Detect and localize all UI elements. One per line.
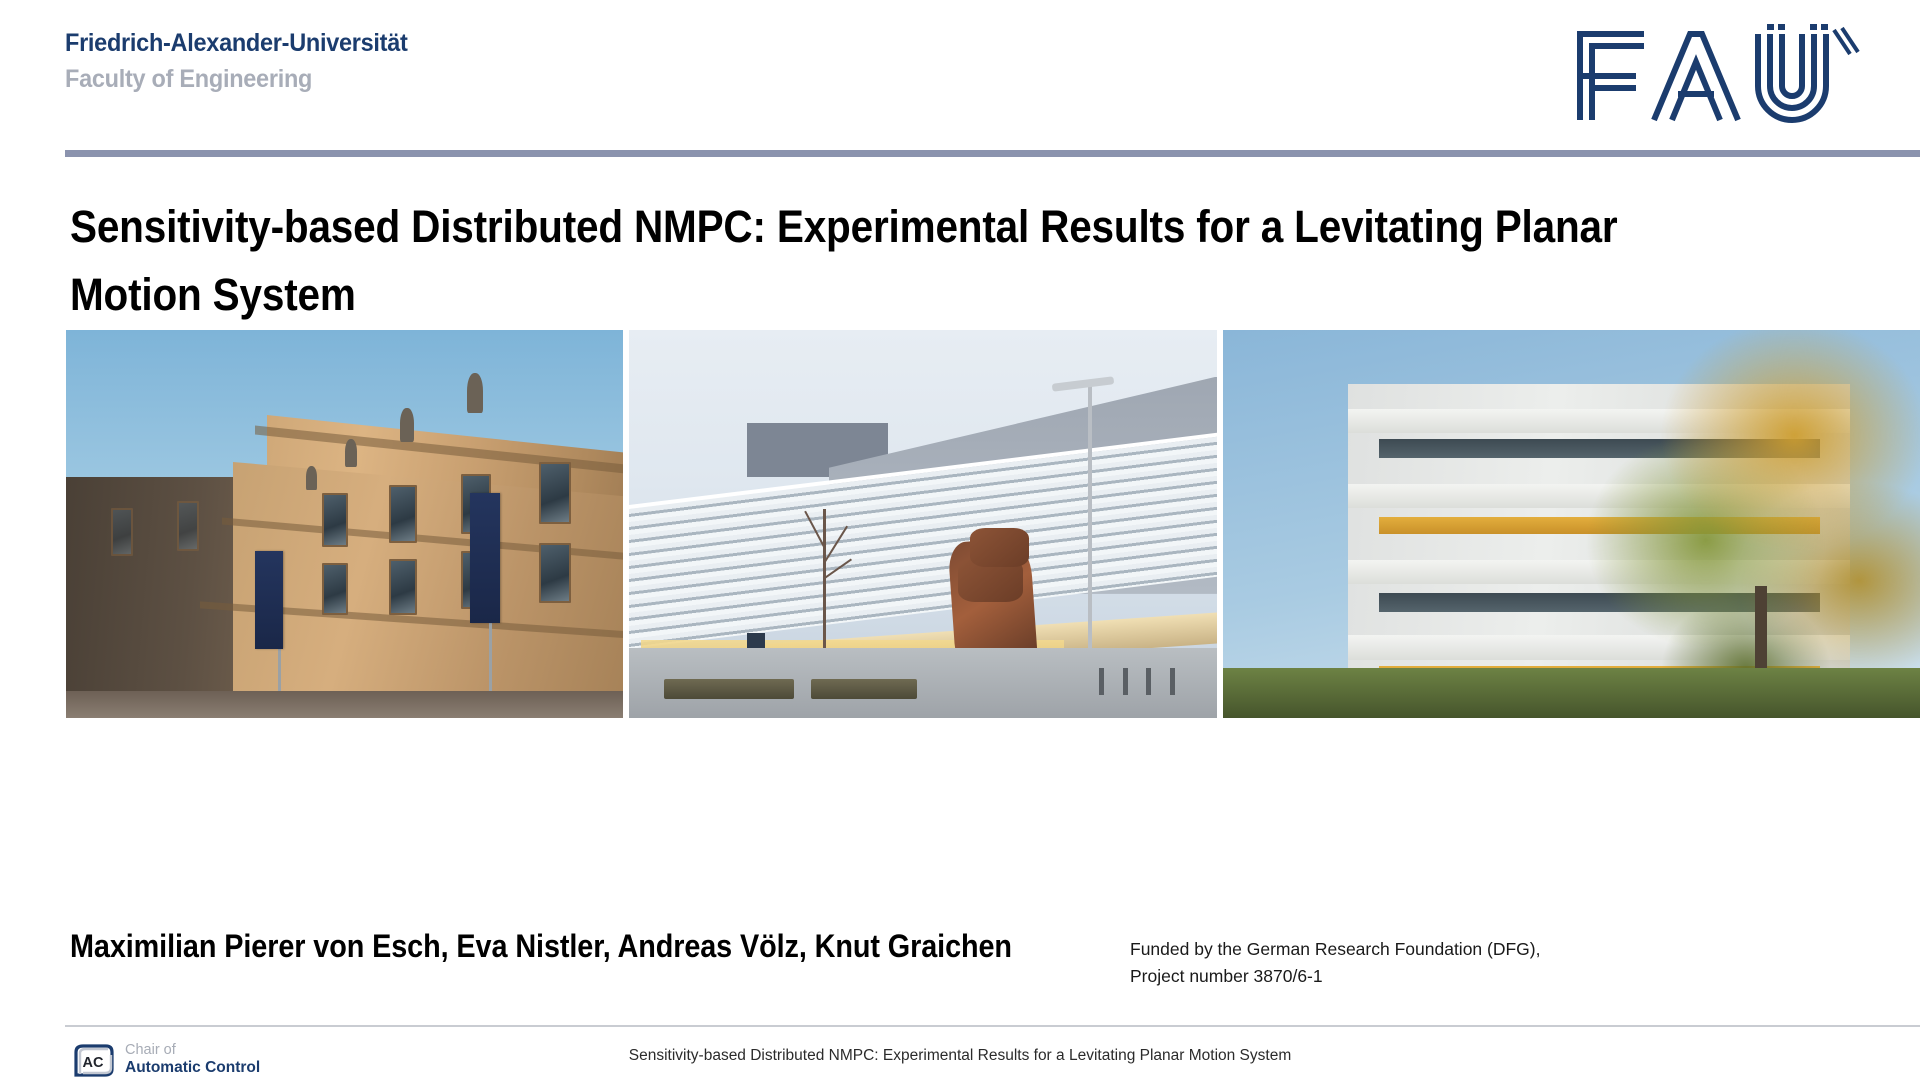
funding-line-1: Funded by the German Research Foundation… [1130, 936, 1650, 963]
footer-divider [65, 1025, 1920, 1027]
faculty-name: Faculty of Engineering [65, 63, 408, 96]
modern-campus-building-photo [629, 330, 1217, 718]
university-name: Friedrich-Alexander-Universität [65, 28, 408, 59]
header-block: Friedrich-Alexander-Universität Faculty … [65, 28, 429, 96]
authors-line: Maximilian Pierer von Esch, Eva Nistler,… [70, 928, 1012, 965]
funding-line-2: Project number 3870/6-1 [1130, 963, 1650, 990]
engineering-building-photo [1223, 330, 1920, 718]
title-image-strip [66, 330, 1920, 718]
funding-note: Funded by the German Research Foundation… [1130, 936, 1650, 990]
fau-logo-icon [1562, 20, 1862, 125]
page-title: Sensitivity-based Distributed NMPC: Expe… [70, 193, 1681, 330]
erlangen-palace-photo [66, 330, 623, 718]
footer-title: Sensitivity-based Distributed NMPC: Expe… [0, 1047, 1920, 1065]
header-divider [65, 150, 1920, 157]
